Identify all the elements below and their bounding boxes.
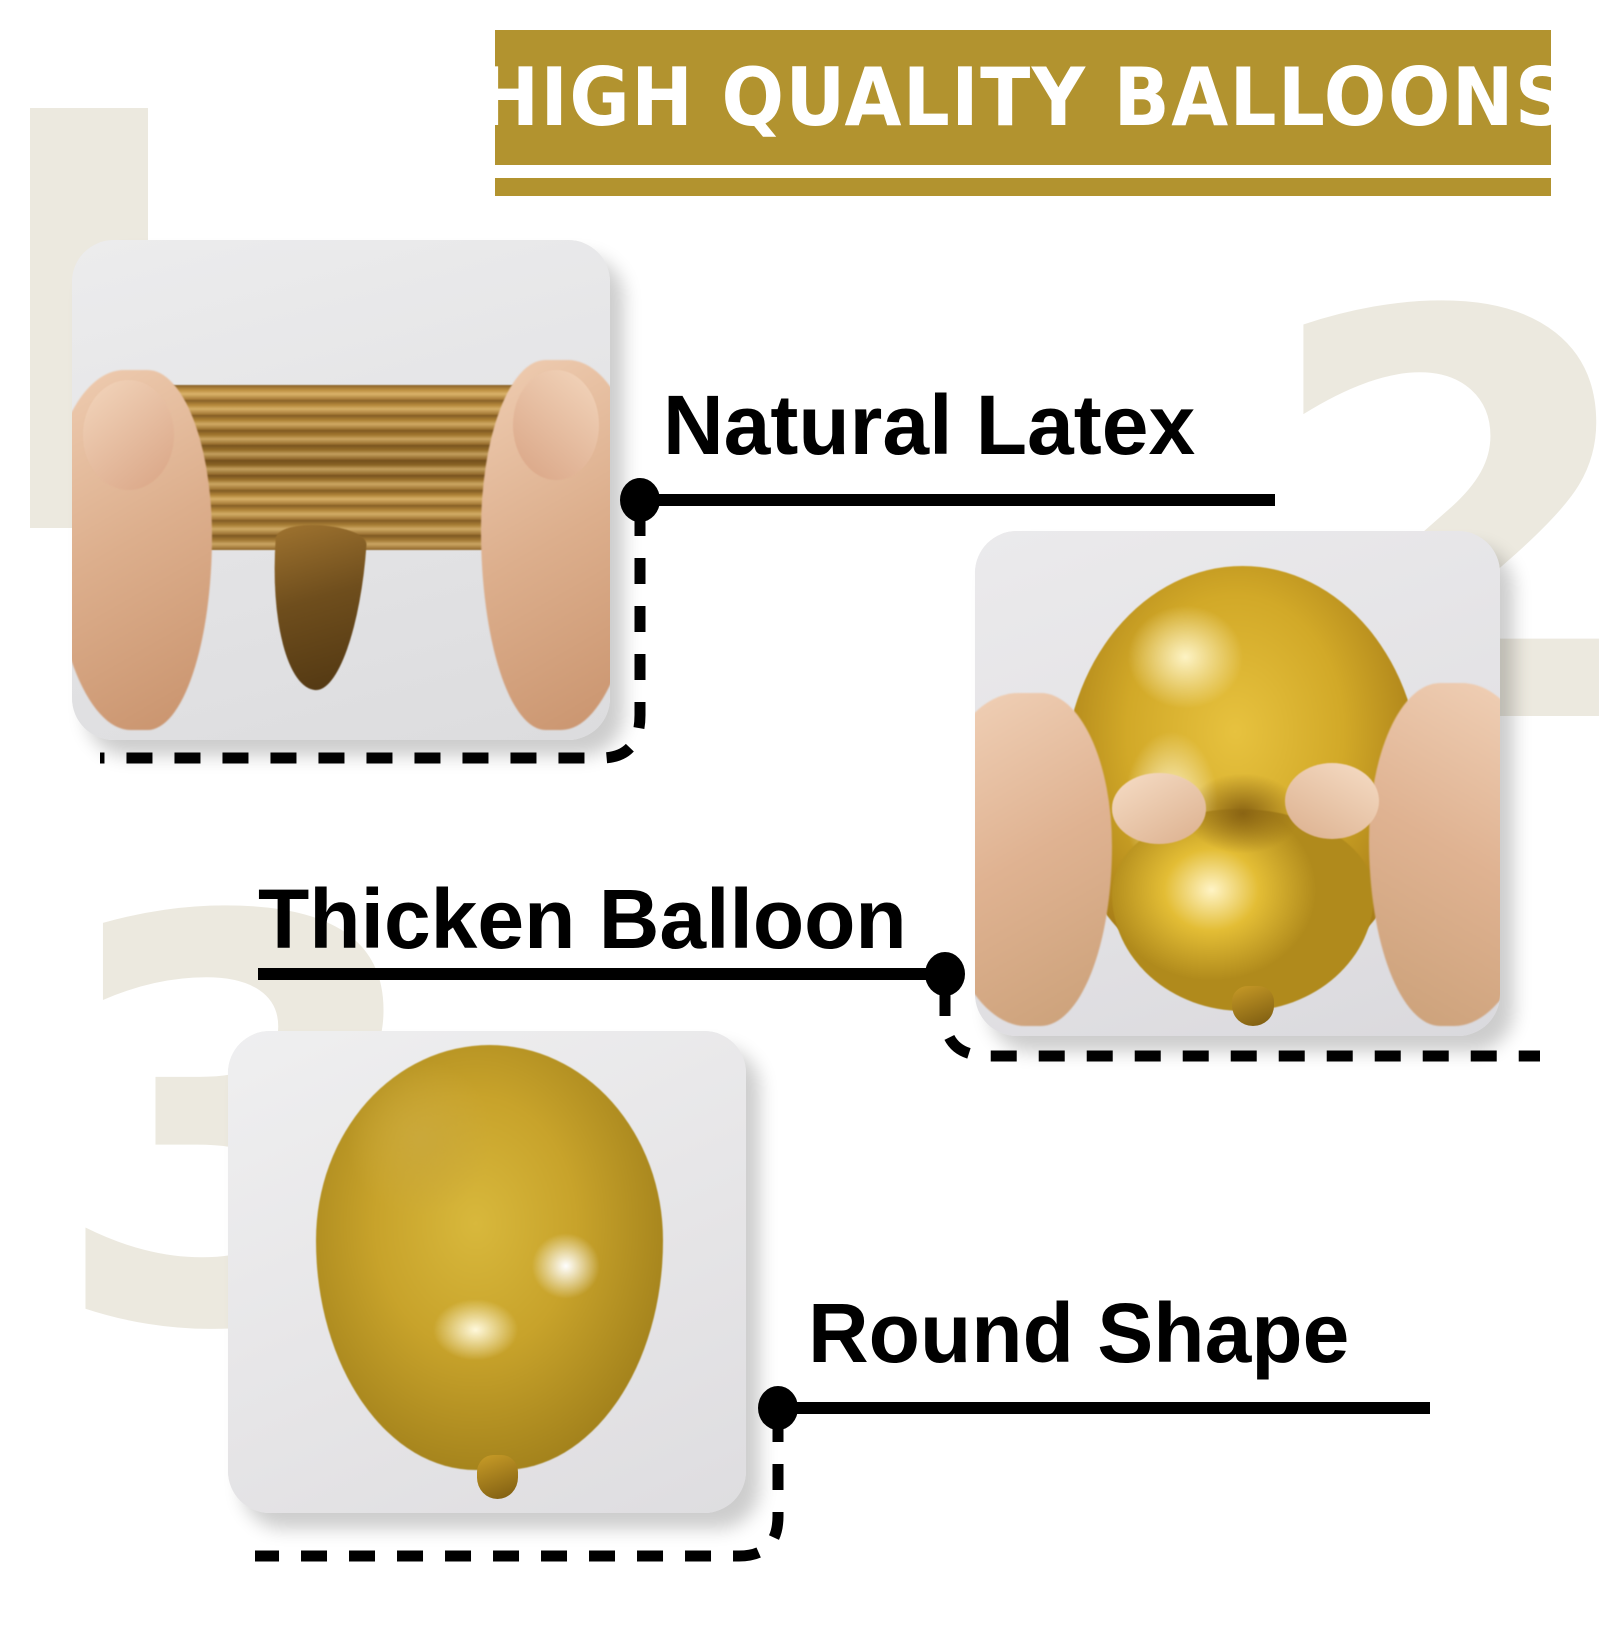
photo-round-balloon <box>228 1031 746 1513</box>
infographic-canvas: 2 3 HIGH QUALITY BALLOONS Natural Latex <box>0 0 1600 1600</box>
left-thumb <box>83 380 174 490</box>
gold-balloon <box>316 1045 663 1469</box>
feature-underline-2 <box>258 968 944 980</box>
balloon-nozzle <box>477 1455 518 1498</box>
right-thumb <box>513 370 599 480</box>
left-thumb <box>1112 773 1207 844</box>
feature-label-natural-latex: Natural Latex <box>663 383 1195 467</box>
feature-label-thicken-balloon: Thicken Balloon <box>258 877 907 961</box>
feature-label-round-shape: Round Shape <box>808 1291 1349 1375</box>
header-banner: HIGH QUALITY BALLOONS <box>495 30 1551 165</box>
right-thumb <box>1285 763 1380 839</box>
feature-photo-thicken-balloon <box>975 531 1500 1036</box>
header-accent-bar <box>495 178 1551 196</box>
connector-line-3 <box>733 1408 1333 1628</box>
photo-stretched-latex <box>72 240 610 740</box>
connector-path-2 <box>945 990 1540 1056</box>
feature-photo-natural-latex <box>72 240 610 740</box>
feature-photo-round-shape <box>228 1031 746 1513</box>
connector-line-2 <box>930 972 1550 1122</box>
photo-squeezed-balloon <box>975 531 1500 1036</box>
page-title: HIGH QUALITY BALLOONS <box>477 51 1569 144</box>
